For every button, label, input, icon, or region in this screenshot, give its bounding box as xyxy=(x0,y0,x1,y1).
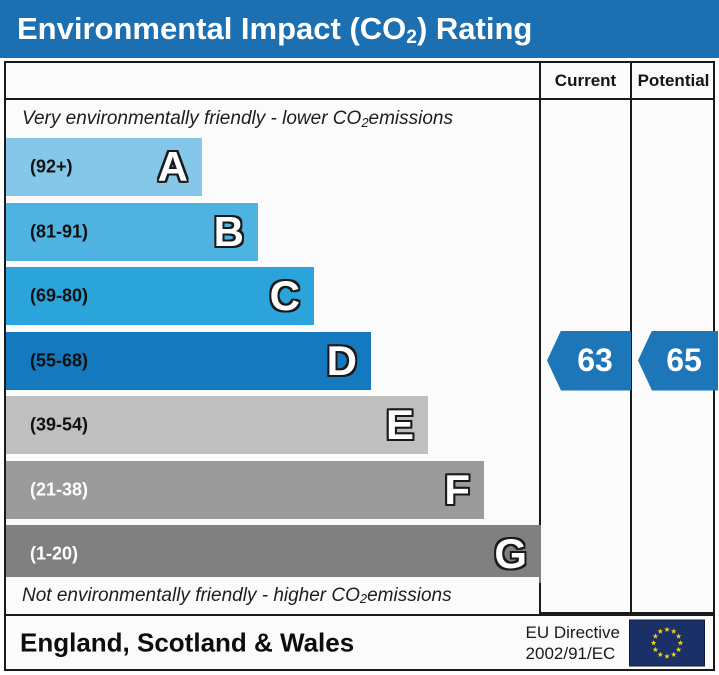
eu-flag-icon xyxy=(629,619,705,666)
caption-subscript: 2 xyxy=(361,115,368,130)
title-subscript: 2 xyxy=(406,27,417,48)
rating-bands: (92+)A(81-91)B(69-80)C(55-68)D(39-54)E(2… xyxy=(6,138,539,577)
band-range-label: (39-54) xyxy=(30,415,88,436)
directive-line-2: 2002/91/EC xyxy=(526,643,620,664)
band-letter-f: F xyxy=(444,469,470,511)
band-letter-c: C xyxy=(270,275,300,317)
band-letter-a: A xyxy=(158,146,188,188)
rating-band-e: (39-54)E xyxy=(6,396,428,454)
band-range-label: (69-80) xyxy=(30,286,88,307)
band-range-label: (55-68) xyxy=(30,350,88,371)
chart-footer: England, Scotland & Wales EU Directive 2… xyxy=(4,614,715,671)
band-letter-g: G xyxy=(494,533,527,575)
band-letter-b: B xyxy=(214,211,244,253)
caption-subscript: 2 xyxy=(360,591,367,606)
current-rating-arrow: 63 xyxy=(547,331,631,391)
column-header-row: Current Potential xyxy=(6,63,713,100)
column-header-potential: Potential xyxy=(630,63,715,98)
chart-frame: Current Potential Very environmentally f… xyxy=(4,61,715,614)
band-range-label: (1-20) xyxy=(30,544,78,565)
page-title: Environmental Impact (CO2) Rating xyxy=(17,11,532,47)
rating-band-d: (55-68)D xyxy=(6,332,371,390)
rating-band-a: (92+)A xyxy=(6,138,202,196)
footer-region-label: England, Scotland & Wales xyxy=(20,627,354,658)
directive-line-1: EU Directive xyxy=(526,621,620,642)
potential-rating-arrow: 65 xyxy=(638,331,718,391)
rating-band-c: (69-80)C xyxy=(6,267,314,325)
rating-band-f: (21-38)F xyxy=(6,461,484,519)
band-letter-d: D xyxy=(327,340,357,382)
band-range-label: (21-38) xyxy=(30,479,88,500)
band-range-label: (81-91) xyxy=(30,221,88,242)
footer-eu-directive: EU Directive 2002/91/EC xyxy=(526,621,620,664)
rating-band-b: (81-91)B xyxy=(6,203,258,261)
band-range-label: (92+) xyxy=(30,157,73,178)
column-header-current: Current xyxy=(539,63,630,98)
caption-not-friendly: Not environmentally friendly - higher CO… xyxy=(6,577,539,614)
rating-band-g: (1-20)G xyxy=(6,525,541,583)
band-letter-e: E xyxy=(386,404,414,446)
epc-environmental-impact-chart: Environmental Impact (CO2) Rating Curren… xyxy=(0,0,719,675)
caption-very-friendly: Very environmentally friendly - lower CO… xyxy=(6,100,539,138)
chart-title-bar: Environmental Impact (CO2) Rating xyxy=(0,0,719,58)
